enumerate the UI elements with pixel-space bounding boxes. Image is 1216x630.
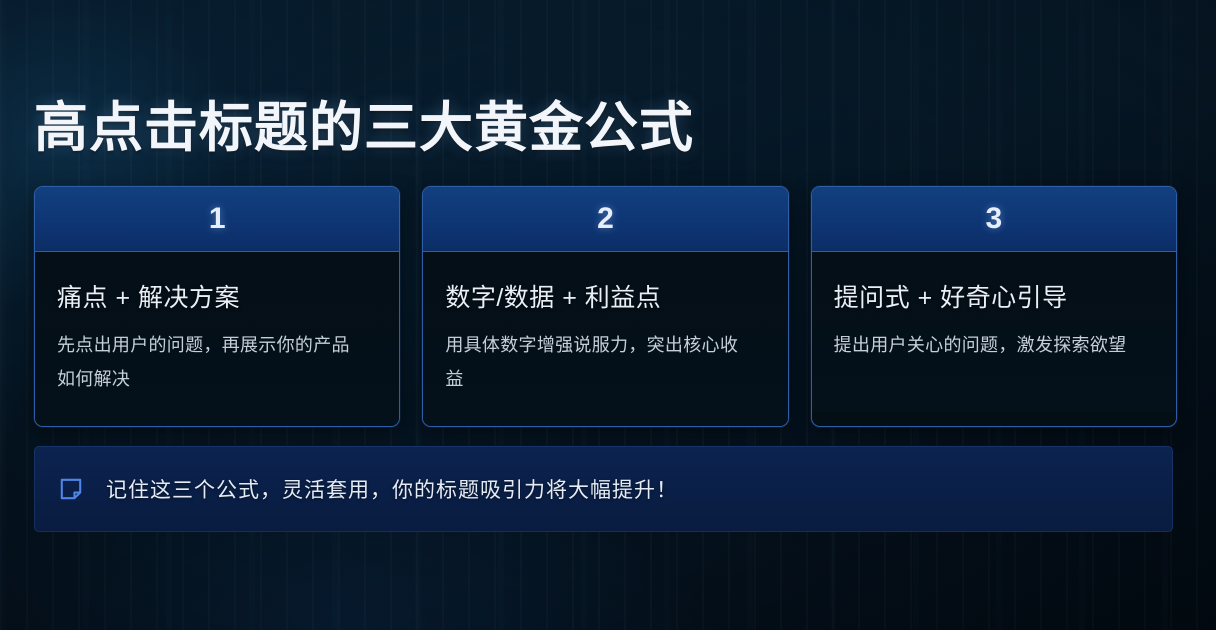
formula-card-2-title: 数字/数据 + 利益点	[445, 278, 765, 314]
formula-card-3[interactable]: 3 提问式 + 好奇心引导 提出用户关心的问题，激发探索欲望	[811, 186, 1177, 427]
summary-callout-text: 记住这三个公式，灵活套用，你的标题吸引力将大幅提升！	[106, 474, 678, 504]
formula-card-1[interactable]: 1 痛点 + 解决方案 先点出用户的问题，再展示你的产品如何解决	[34, 186, 400, 427]
formula-card-3-header: 3	[812, 187, 1176, 252]
formula-card-3-body: 提问式 + 好奇心引导 提出用户关心的问题，激发探索欲望	[812, 252, 1176, 412]
formula-card-1-body: 痛点 + 解决方案 先点出用户的问题，再展示你的产品如何解决	[35, 252, 399, 426]
summary-callout-bar: 记住这三个公式，灵活套用，你的标题吸引力将大幅提升！	[34, 446, 1173, 532]
page-title: 高点击标题的三大黄金公式	[34, 99, 694, 158]
formula-cards-row: 1 痛点 + 解决方案 先点出用户的问题，再展示你的产品如何解决 2 数字/数据…	[34, 186, 1177, 427]
formula-card-2-header: 2	[423, 187, 787, 252]
formula-card-1-header: 1	[35, 187, 399, 252]
formula-card-2-description: 用具体数字增强说服力，突出核心收益	[445, 328, 750, 396]
formula-card-3-number: 3	[985, 204, 1002, 234]
formula-card-1-title: 痛点 + 解决方案	[57, 278, 377, 314]
formula-card-1-description: 先点出用户的问题，再展示你的产品如何解决	[57, 328, 362, 396]
formula-card-3-description: 提出用户关心的问题，激发探索欲望	[834, 328, 1139, 362]
formula-card-2[interactable]: 2 数字/数据 + 利益点 用具体数字增强说服力，突出核心收益	[422, 186, 788, 427]
formula-card-3-title: 提问式 + 好奇心引导	[834, 278, 1154, 314]
slide-canvas: 高点击标题的三大黄金公式 1 痛点 + 解决方案 先点出用户的问题，再展示你的产…	[0, 0, 1216, 630]
sticky-note-icon	[58, 476, 84, 502]
formula-card-1-number: 1	[209, 204, 226, 234]
formula-card-2-number: 2	[597, 204, 614, 234]
formula-card-2-body: 数字/数据 + 利益点 用具体数字增强说服力，突出核心收益	[423, 252, 787, 426]
